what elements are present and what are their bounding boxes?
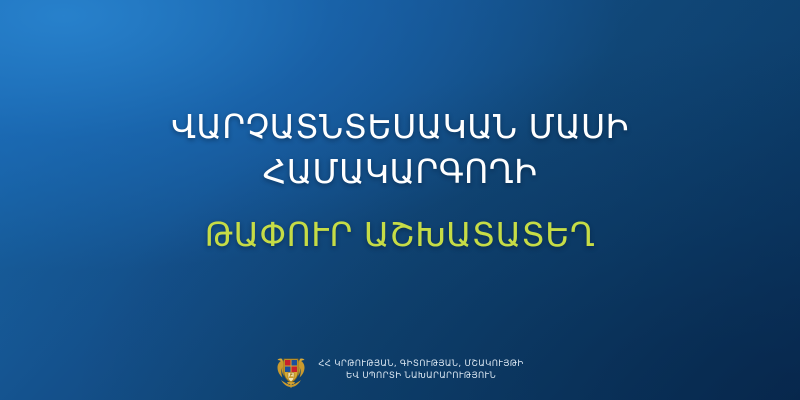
headline-line-3-accent: ԹԱՓՈՒՐ ԱՇԽԱՏԱՏԵՂ [0,212,800,257]
announcement-banner: ՎԱՐՉԱՏՆՏԵՍԱԿԱՆ ՄԱՍԻ ՀԱՄԱԿԱՐԳՈՂԻ ԹԱՓՈՒՐ Ա… [0,0,800,400]
footer-branding: ՀՀ ԿՐԹՈՒԹՅԱՆ, ԳԻՏՈՒԹՅԱՆ, ՄՇԱԿՈՒՅԹԻ ԵՎ ՍՊ… [0,348,800,392]
headline-line-2: ՀԱՄԱԿԱՐԳՈՂԻ [0,149,800,194]
ministry-name: ՀՀ ԿՐԹՈՒԹՅԱՆ, ԳԻՏՈՒԹՅԱՆ, ՄՇԱԿՈՒՅԹԻ ԵՎ ՍՊ… [318,358,523,382]
ministry-name-line-2: ԵՎ ՍՊՈՐՏԻ ՆԱԽԱՐԱՐՈՒԹՅՈՒՆ [346,370,496,382]
headline-line-1: ՎԱՐՉԱՏՆՏԵՍԱԿԱՆ ՄԱՍԻ [0,104,800,149]
headline-block: ՎԱՐՉԱՏՆՏԵՍԱԿԱՆ ՄԱՍԻ ՀԱՄԱԿԱՐԳՈՂԻ ԹԱՓՈՒՐ Ա… [0,104,800,257]
ministry-name-line-1: ՀՀ ԿՐԹՈՒԹՅԱՆ, ԳԻՏՈՒԹՅԱՆ, ՄՇԱԿՈՒՅԹԻ [318,358,523,370]
armenia-coat-of-arms-icon [276,352,306,388]
